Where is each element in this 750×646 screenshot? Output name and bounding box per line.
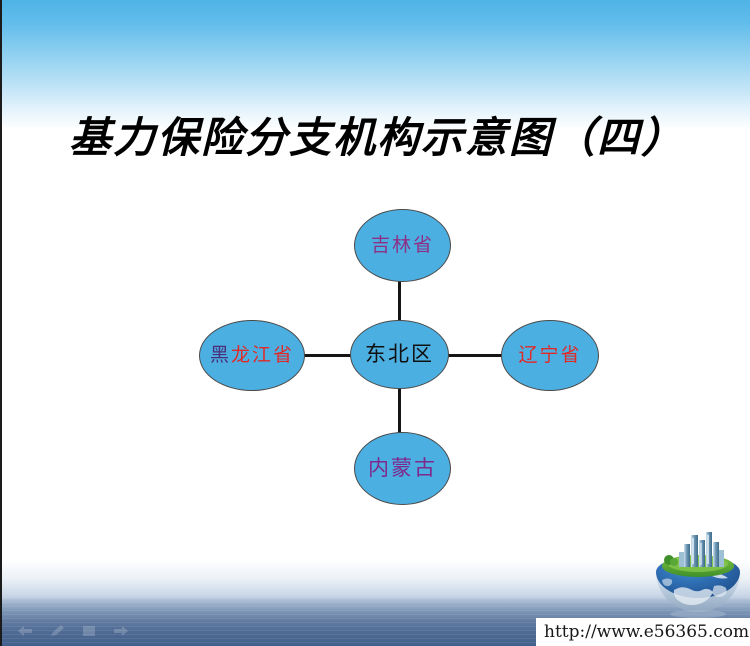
node-jilin-label: 吉林省 <box>371 236 434 255</box>
back-arrow-icon[interactable] <box>16 624 34 638</box>
node-liaoning[interactable]: 辽宁省 <box>501 320 599 391</box>
node-heilongjiang-label-part2: 龙江省 <box>231 344 294 366</box>
connector-center-to-right <box>443 354 504 357</box>
connector-center-to-bottom <box>398 383 401 437</box>
watermark-bar: http://www.e56365.com <box>536 618 750 646</box>
slide-title: 基力保险分支机构示意图（四） <box>2 104 750 165</box>
node-heilongjiang-label-part1: 黑 <box>210 344 231 366</box>
node-heilongjiang-label: 黑龙江省 <box>210 346 294 365</box>
node-northeast-region[interactable]: 东北区 <box>350 320 449 389</box>
page-icon[interactable] <box>80 624 98 638</box>
node-liaoning-label: 辽宁省 <box>518 346 581 365</box>
node-heilongjiang[interactable]: 黑龙江省 <box>199 320 305 391</box>
slide-nav-controls[interactable] <box>16 624 130 638</box>
connector-center-to-top <box>398 276 401 326</box>
node-northeast-region-label: 东北区 <box>365 344 434 365</box>
globe-city-logo <box>648 528 748 620</box>
node-inner-mongolia-label: 内蒙古 <box>368 458 437 479</box>
node-inner-mongolia[interactable]: 内蒙古 <box>354 432 451 505</box>
pen-icon[interactable] <box>48 624 66 638</box>
presentation-slide: 基力保险分支机构示意图（四） 吉林省 黑龙江省 东北区 辽宁省 内蒙古 <box>0 0 750 646</box>
node-jilin[interactable]: 吉林省 <box>354 209 451 282</box>
connector-center-to-left <box>298 354 356 357</box>
forward-arrow-icon[interactable] <box>112 624 130 638</box>
watermark-url: http://www.e56365.com <box>536 622 749 642</box>
org-chart-diagram: 吉林省 黑龙江省 东北区 辽宁省 内蒙古 <box>2 0 750 646</box>
